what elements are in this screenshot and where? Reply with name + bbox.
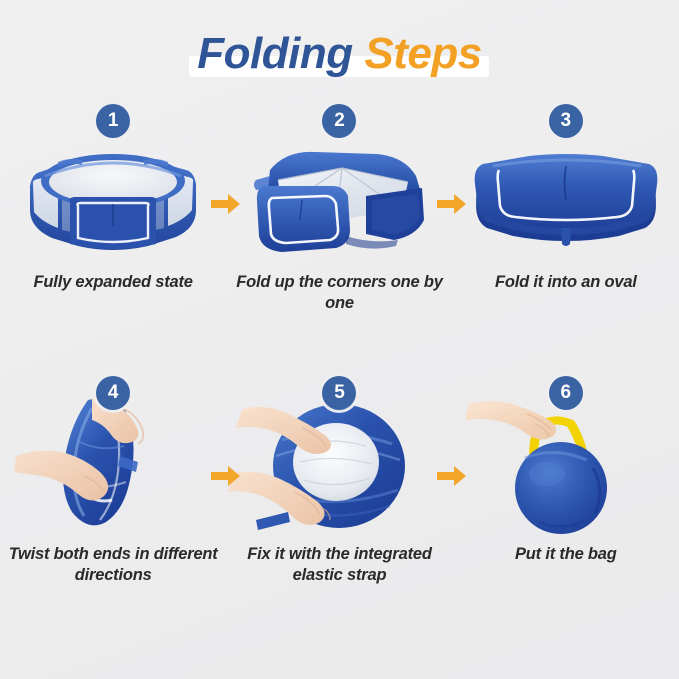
arrow-right-icon [437,192,467,216]
step-cell-3[interactable]: 3 [453,96,679,368]
steps-row-top: 1 [0,96,679,368]
step-cell-5[interactable]: 5 [226,368,452,640]
step-badge-1: 1 [96,104,130,138]
folding-steps-infographic: Folding Steps 1 [0,0,679,679]
step-badge-5: 5 [322,376,356,410]
step-caption-4: Twist both ends in different directions [0,544,226,586]
step-badge-4: 4 [96,376,130,410]
title-part-folding: Folding [197,29,352,78]
hand-holding-round-bag-illustration [453,396,679,536]
step-badge-6: 6 [549,376,583,410]
playpen-corners-folded-illustration [226,124,452,264]
steps-row-bottom: 4 [0,368,679,640]
step-badge-3: 3 [549,104,583,138]
step-caption-6: Put it the bag [453,544,679,565]
hands-coiled-bundle-illustration [226,396,452,536]
step-cell-4[interactable]: 4 [0,368,226,640]
hands-twisting-illustration [0,396,226,536]
step-cell-2[interactable]: 2 [226,96,452,368]
step-badge-2: 2 [322,104,356,138]
step-caption-1: Fully expanded state [0,272,226,293]
step-cell-1[interactable]: 1 [0,96,226,368]
arrow-right-icon [211,464,241,488]
playpen-oval-illustration [453,124,679,264]
arrow-right-icon [437,464,467,488]
title-part-steps: Steps [364,29,481,78]
step-caption-2: Fold up the corners one by one [226,272,452,314]
steps-grid: 1 [0,96,679,640]
playpen-expanded-illustration [0,124,226,264]
step-cell-6[interactable]: 6 [453,368,679,640]
step-caption-3: Fold it into an oval [453,272,679,293]
arrow-right-icon [211,192,241,216]
step-caption-5: Fix it with the integrated elastic strap [226,544,452,586]
title-text: Folding Steps [0,24,679,84]
page-title: Folding Steps [0,24,679,88]
